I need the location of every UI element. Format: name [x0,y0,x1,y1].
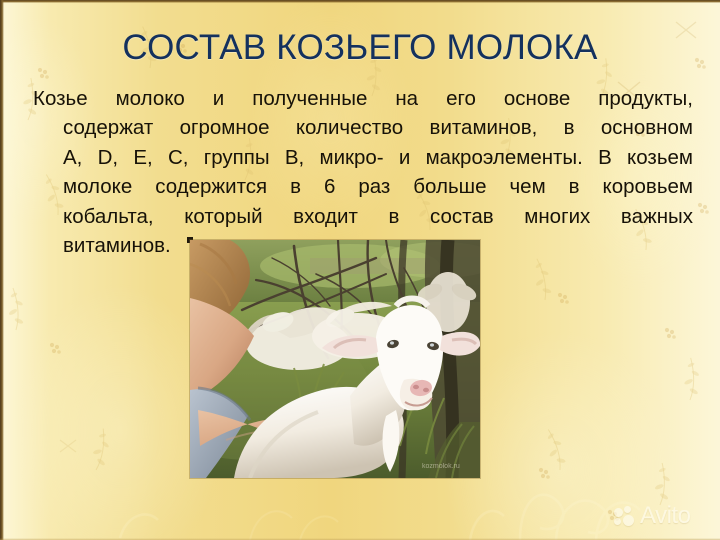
slide-title: СОСТАВ КОЗЬЕГО МОЛОКА [0,27,720,69]
body-line-3: A, D, E, C, группы B, микро- и макроэлем… [33,143,693,172]
slide-left-border [0,0,4,540]
slide-top-border [0,0,720,3]
svg-text:kozmolok.ru: kozmolok.ru [422,463,460,470]
body-line-5: кобальта, который входит в состав многих… [33,202,693,231]
slide-canvas: СОСТАВ КОЗЬЕГО МОЛОКА Козье молоко и пол… [0,0,720,540]
goat-photo[interactable]: kozmolok.ru [190,240,480,478]
body-line-2: содержат огромное количество витаминов, … [33,113,693,142]
avito-brand-label: Avito [640,504,690,528]
avito-dots-icon [614,506,636,527]
body-line-4: молоке содержится в 6 раз больше чем в к… [33,172,693,201]
slide-body-text: Козье молоко и полученные на его основе … [33,84,693,260]
body-line-1: Козье молоко и полученные на его основе … [33,84,693,113]
avito-watermark: Avito [614,501,710,531]
